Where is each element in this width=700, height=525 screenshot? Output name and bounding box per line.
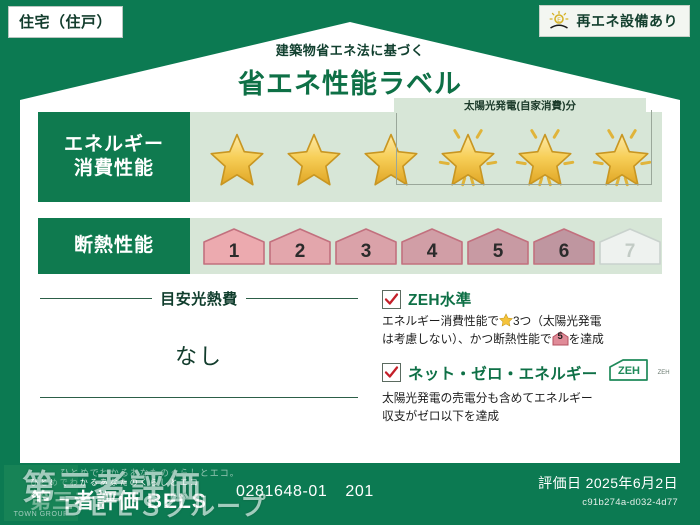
- house-level-value: 5: [552, 331, 569, 346]
- checkbox-zeh-level[interactable]: [382, 290, 401, 309]
- checkbox-net-zero[interactable]: [382, 363, 401, 382]
- sun-icon: E: [548, 10, 570, 32]
- criteria-zeh-level-title: ZEH水準: [408, 288, 472, 310]
- energy-performance-label: 住宅（住戸） E 再エネ設備あり 建築物省エネ法に基づく 省エネ性能ラベル エネ…: [0, 0, 700, 525]
- criteria-section: ZEH水準 エネルギー消費性能で3つ（太陽光発電は考慮しない）、かつ断熱性能で5…: [382, 288, 670, 436]
- star-icon: [499, 313, 513, 327]
- criteria-net-zero-title: ネット・ゼロ・エネルギー: [408, 362, 598, 384]
- insulation-level-blocks: 1234567: [202, 226, 662, 266]
- utility-cost-heading: 目安光熱費: [40, 288, 358, 309]
- insulation-row-label: 断熱性能: [38, 218, 190, 274]
- star-6: [585, 121, 659, 193]
- check-icon: [384, 292, 399, 307]
- energy-performance-row: エネルギー 消費性能 太陽光発電(自家消費)分: [38, 112, 662, 202]
- energy-row-body: 太陽光発電(自家消費)分: [190, 112, 662, 202]
- star-icon: [435, 124, 501, 190]
- heading-rule-left: [40, 298, 152, 299]
- insulation-block-label: 7: [625, 241, 636, 263]
- label-footer: ひとめでわかるあなたのくらしとエコ 第三者評価 BELS 0281648-012…: [0, 463, 700, 525]
- star-2: [277, 121, 351, 193]
- certificate-number: 0281648-01: [236, 483, 327, 500]
- star-icon: [281, 124, 347, 190]
- renewable-equipment-badge: E 再エネ設備あり: [539, 5, 691, 37]
- star-3: [354, 121, 428, 193]
- insulation-block-label: 6: [559, 241, 570, 263]
- label-sub-title: 建築物省エネ法に基づく: [0, 40, 700, 59]
- zeh-desc-part2: 3つ（太陽光発電: [513, 314, 601, 328]
- bels-ruby: ひとめでわかるあなたのくらしとエコ: [30, 477, 207, 488]
- energy-star-rating: [200, 121, 659, 193]
- zeh-desc-part3: は考慮しない）、かつ断熱性能で: [382, 332, 552, 346]
- criteria-net-zero-desc: 太陽光発電の売電分も含めてエネルギー収支がゼロ以下を達成: [382, 390, 670, 425]
- criteria-item-zeh-level: ZEH水準 エネルギー消費性能で3つ（太陽光発電は考慮しない）、かつ断熱性能で5…: [382, 288, 670, 348]
- bels-label: 第三者評価 BELS: [30, 490, 207, 513]
- insulation-block-label: 3: [361, 241, 372, 263]
- evaluation-date-group: 評価日 2025年6月2日 c91b274a-d032-4d77: [538, 473, 678, 508]
- criteria-item-net-zero: ネット・ゼロ・エネルギー ZEH ZEH 太陽光発電の売電分も含めてエネルギー収…: [382, 358, 670, 425]
- net-zero-desc-part1: 太陽光発電の売電分も含めてエネルギー: [382, 391, 593, 405]
- house-level-icon: 5: [552, 331, 569, 346]
- insulation-row-label-text: 断熱性能: [74, 234, 154, 258]
- insulation-block-4: 4: [400, 226, 464, 266]
- net-zero-desc-part2: 収支がゼロ以下を達成: [382, 409, 499, 423]
- zeh-house-shape: ZEH: [607, 358, 651, 382]
- insulation-block-7: 7: [598, 226, 662, 266]
- insulation-block-2: 2: [268, 226, 332, 266]
- bels-mark: ひとめでわかるあなたのくらしとエコ 第三者評価 BELS: [30, 477, 207, 515]
- svg-text:ZEH: ZEH: [618, 365, 640, 377]
- insulation-block-5: 5: [466, 226, 530, 266]
- energy-row-label-line1: エネルギー: [64, 133, 164, 157]
- star-icon: [204, 124, 270, 190]
- insulation-block-3: 3: [334, 226, 398, 266]
- criteria-net-zero-header: ネット・ゼロ・エネルギー ZEH ZEH: [382, 358, 670, 387]
- evaluation-date: 評価日 2025年6月2日: [538, 473, 678, 493]
- zeh-desc-part4: を達成: [569, 332, 604, 346]
- evaluation-date-value: 2025年6月2日: [586, 475, 678, 491]
- utility-cost-section: 目安光熱費 なし: [40, 288, 358, 398]
- star-1: [200, 121, 274, 193]
- insulation-block-label: 2: [295, 241, 306, 263]
- check-icon: [384, 365, 399, 380]
- building-type-tag: 住宅（住戸）: [8, 6, 123, 38]
- insulation-row-body: 1234567: [190, 218, 662, 274]
- zeh-house-icon: ZEH: [607, 358, 651, 387]
- insulation-block-6: 6: [532, 226, 596, 266]
- utility-cost-bottom-rule: [40, 397, 358, 398]
- renewable-badge-label: 再エネ設備あり: [577, 11, 679, 31]
- zeh-trademark: ZEH: [658, 370, 670, 376]
- energy-row-label: エネルギー 消費性能: [38, 112, 190, 202]
- criteria-zeh-level-header: ZEH水準: [382, 288, 670, 310]
- insulation-block-label: 4: [427, 241, 438, 263]
- criteria-zeh-level-desc: エネルギー消費性能で3つ（太陽光発電は考慮しない）、かつ断熱性能で5を達成: [382, 313, 670, 348]
- star-icon: [589, 124, 655, 190]
- certificate-number-group: 0281648-01201: [236, 483, 374, 501]
- star-4: [431, 121, 505, 193]
- svg-text:E: E: [557, 17, 561, 24]
- star-5: [508, 121, 582, 193]
- insulation-block-label: 1: [229, 241, 240, 263]
- energy-row-label-line2: 消費性能: [74, 157, 154, 181]
- insulation-block-label: 5: [493, 241, 504, 263]
- star-icon: [358, 124, 424, 190]
- unit-number: 201: [345, 483, 374, 500]
- evaluation-date-label: 評価日: [538, 475, 581, 491]
- insulation-performance-row: 断熱性能 1234567: [38, 218, 662, 274]
- heading-rule-right: [246, 298, 358, 299]
- utility-cost-value: なし: [40, 309, 358, 397]
- zeh-desc-part1: エネルギー消費性能で: [382, 314, 499, 328]
- utility-cost-heading-text: 目安光熱費: [160, 288, 238, 309]
- insulation-block-1: 1: [202, 226, 266, 266]
- star-icon: [512, 124, 578, 190]
- label-main-title: 省エネ性能ラベル: [0, 62, 700, 101]
- record-id: c91b274a-d032-4d77: [538, 497, 678, 508]
- title-block: 建築物省エネ法に基づく 省エネ性能ラベル: [0, 40, 700, 101]
